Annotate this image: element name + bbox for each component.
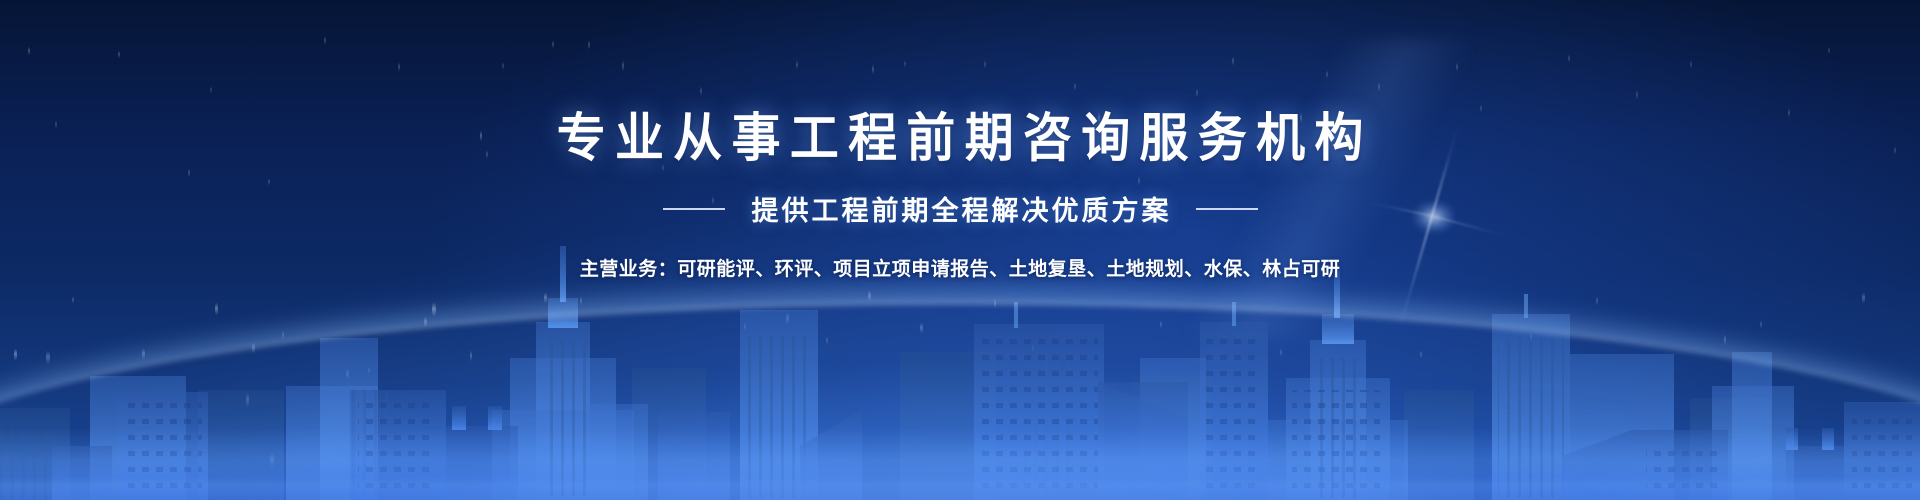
banner-content: 专业从事工程前期咨询服务机构 提供工程前期全程解决优质方案 主营业务：可研能评、…: [0, 0, 1920, 500]
banner-subtitle-row: 提供工程前期全程解决优质方案: [663, 189, 1258, 228]
hero-banner: 专业从事工程前期咨询服务机构 提供工程前期全程解决优质方案 主营业务：可研能评、…: [0, 0, 1920, 500]
banner-subtitle: 提供工程前期全程解决优质方案: [749, 189, 1172, 228]
banner-services-line: 主营业务：可研能评、环评、项目立项申请报告、土地复垦、土地规划、水保、林占可研: [580, 254, 1341, 281]
divider-dash-left: [663, 208, 725, 210]
divider-dash-right: [1196, 208, 1258, 210]
banner-title: 专业从事工程前期咨询服务机构: [547, 112, 1372, 167]
